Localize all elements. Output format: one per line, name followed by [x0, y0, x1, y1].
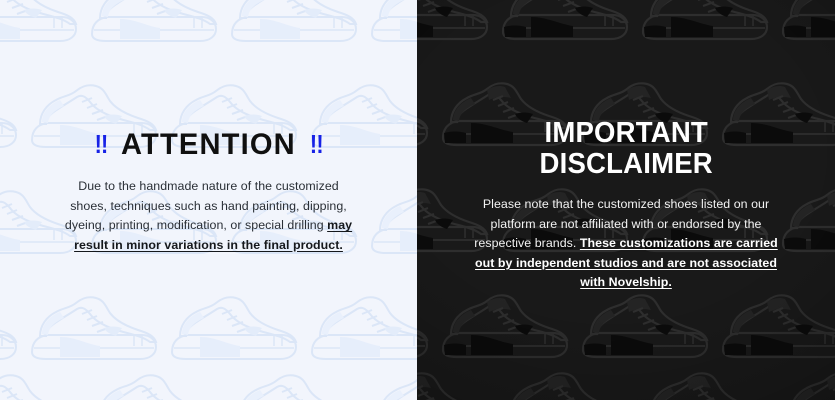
disclaimer-heading: IMPORTANT DISCLAIMER: [539, 118, 712, 180]
disclaimer-heading-line-1: IMPORTANT: [539, 118, 712, 149]
disclaimer-panel: IMPORTANT DISCLAIMER Please note that th…: [417, 0, 835, 400]
double-exclamation-icon-right: !!: [310, 131, 323, 157]
customization-disclaimer-banner: !! ATTENTION !! Due to the handmade natu…: [0, 0, 835, 400]
double-exclamation-icon-left: !!: [95, 131, 108, 157]
disclaimer-body: Please note that the customized shoes li…: [466, 195, 786, 293]
attention-heading-word: ATTENTION: [121, 130, 296, 160]
attention-body-normal: Due to the handmade nature of the custom…: [65, 179, 347, 232]
attention-heading: !! ATTENTION !!: [94, 130, 324, 160]
attention-content: !! ATTENTION !! Due to the handmade natu…: [0, 0, 417, 400]
disclaimer-heading-line-2: DISCLAIMER: [539, 149, 712, 180]
attention-body: Due to the handmade nature of the custom…: [59, 177, 359, 255]
attention-panel: !! ATTENTION !! Due to the handmade natu…: [0, 0, 417, 400]
disclaimer-content: IMPORTANT DISCLAIMER Please note that th…: [417, 0, 835, 400]
